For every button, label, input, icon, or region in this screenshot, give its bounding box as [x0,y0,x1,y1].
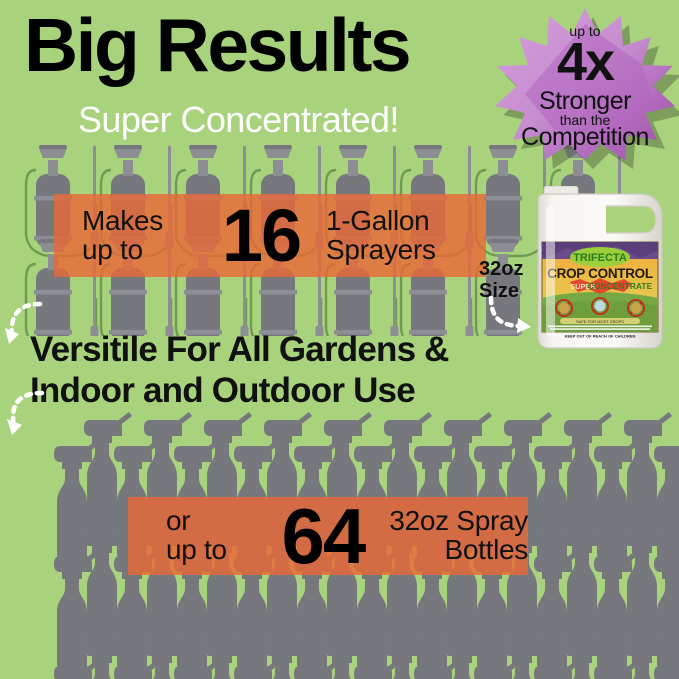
label-safe-note: SAFE FOR MOST CROPS [576,319,624,324]
sprayers-unit-line1: 1-Gallon [326,207,436,236]
versatility-line2: Indoor and Outdoor Use [30,371,449,412]
sprayers-count: 16 [200,199,322,273]
bottles-banner-line1: or [166,507,262,536]
bottles-callout-banner: or up to 64 32oz Spray Bottles [128,497,528,575]
bottles-count: 64 [262,497,383,575]
label-concentrate: CONCENTRATE [588,281,653,291]
bottles-unit-line2: Bottles [389,536,528,565]
badge-stronger: Stronger [495,89,675,114]
infographic-canvas: Big Results Super Concentrated! up to 4x… [0,0,679,679]
label-warning: KEEP OUT OF REACH OF CHILDREN [565,334,636,339]
bottles-unit-line1: 32oz Spray [389,507,528,536]
sprayers-banner-line1: Makes [82,207,200,236]
page-subtitle: Super Concentrated! [78,99,399,141]
versatility-copy: Versitile For All Gardens & Indoor and O… [30,330,449,411]
sprayers-unit-line2: Sprayers [326,236,436,265]
label-brand: TRIFECTA [573,252,627,264]
versatility-line1: Versitile For All Gardens & [30,330,449,371]
arrow-to-mid-copy-icon [2,300,54,353]
sprayers-banner-line2: up to [82,236,200,265]
arrow-to-bottles-icon [2,389,58,444]
sprayers-callout-banner: Makes up to 16 1-Gallon Sprayers [54,194,486,277]
bottles-banner-line2: up to [166,536,262,565]
starburst-badge: up to 4x Stronger than the Competition [495,8,675,160]
badge-multiplier: 4x [495,35,675,89]
page-title: Big Results [24,8,409,83]
badge-competition: Competition [495,125,675,150]
product-size-line1: 32oz [479,258,523,280]
product-bottle: TRIFECTA CROP CONTROL SUPER CONCENTRATE [528,186,676,352]
